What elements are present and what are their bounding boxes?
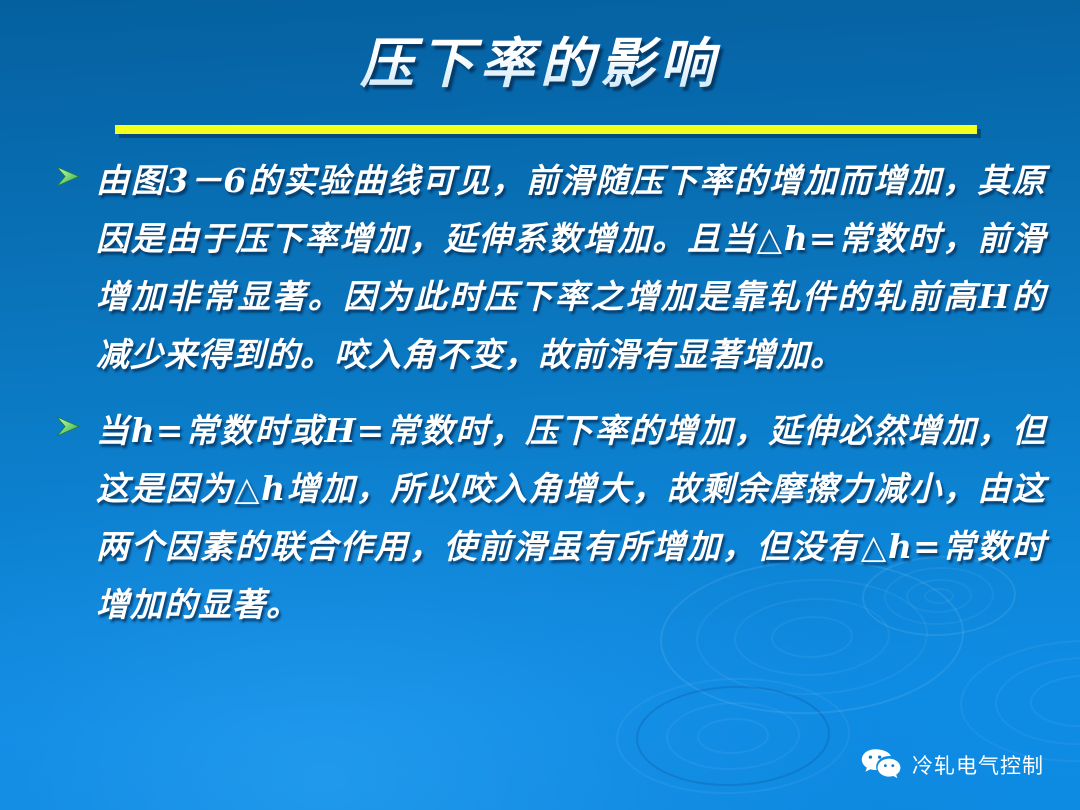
- wechat-account-name: 冷轧电气控制: [912, 756, 1044, 777]
- ripple-ring: [958, 636, 1080, 766]
- wechat-footer: 冷轧电气控制: [861, 748, 1044, 784]
- variable-h: h: [131, 411, 156, 450]
- variable-H: H: [979, 277, 1011, 316]
- ripple-ring: [634, 683, 831, 790]
- slide-body: 由图3－6的实验曲线可见，前滑随压下率的增加而增加，其原因是由于压下率增加，延伸…: [56, 152, 1046, 644]
- wechat-logo-icon: [861, 748, 901, 784]
- ripple-ring: [614, 674, 852, 798]
- ripple-ring: [696, 717, 769, 755]
- variable-H: H: [324, 411, 356, 450]
- bullet-paragraph: 由图3－6的实验曲线可见，前滑随压下率的增加而增加，其原因是由于压下率增加，延伸…: [96, 152, 1046, 384]
- slide-canvas: 压下率的影响 由图3－6的实验曲线可见，前滑随压下率的增加而增加，其原因是由: [0, 0, 1080, 810]
- page-title: 压下率的影响: [0, 34, 1080, 93]
- arrow-bullet-icon: [56, 152, 96, 188]
- bullet-item: 由图3－6的实验曲线可见，前滑随压下率的增加而增加，其原因是由于压下率增加，延伸…: [56, 152, 1046, 384]
- bullet-paragraph: 当h=常数时或H=常数时，压下率的增加，延伸必然增加，但这是因为△h增加，所以咬…: [96, 402, 1046, 634]
- arrow-bullet-icon: [56, 402, 96, 438]
- title-divider: [115, 125, 977, 134]
- ripple-ring: [994, 654, 1080, 748]
- bullet-item: 当h=常数时或H=常数时，压下率的增加，延伸必然增加，但这是因为△h增加，所以咬…: [56, 402, 1046, 634]
- ripple-ring: [665, 700, 801, 773]
- ripple-ring: [1029, 673, 1080, 729]
